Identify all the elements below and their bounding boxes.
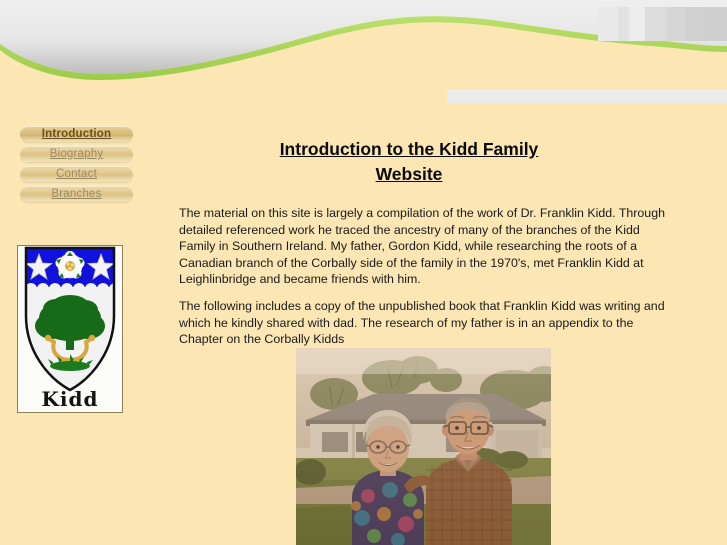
- intro-paragraph-1: The material on this site is largely a c…: [179, 205, 666, 288]
- nav-item-biography[interactable]: Biography: [20, 146, 133, 162]
- header-banner: [0, 0, 727, 92]
- header-band-strip: [598, 7, 727, 41]
- intro-paragraph-2: The following includes a copy of the unp…: [179, 298, 666, 348]
- nav-item-introduction[interactable]: Introduction: [20, 126, 133, 142]
- site-navigation: Introduction Biography Contact Branches: [20, 126, 133, 206]
- nav-item-branches[interactable]: Branches: [20, 186, 133, 202]
- page-title-line-1: Introduction to the Kidd Family: [280, 139, 539, 159]
- photograph-graphic: [296, 348, 551, 545]
- page-title-line-2: Website: [376, 164, 443, 184]
- kidd-coat-of-arms-image: Kidd: [17, 245, 123, 413]
- page-title: Introduction to the Kidd Family Website: [178, 137, 640, 187]
- nav-item-contact[interactable]: Contact: [20, 166, 133, 182]
- crest-caption: Kidd: [18, 388, 122, 410]
- family-photograph: [296, 348, 551, 545]
- header-light-bar: [447, 90, 727, 103]
